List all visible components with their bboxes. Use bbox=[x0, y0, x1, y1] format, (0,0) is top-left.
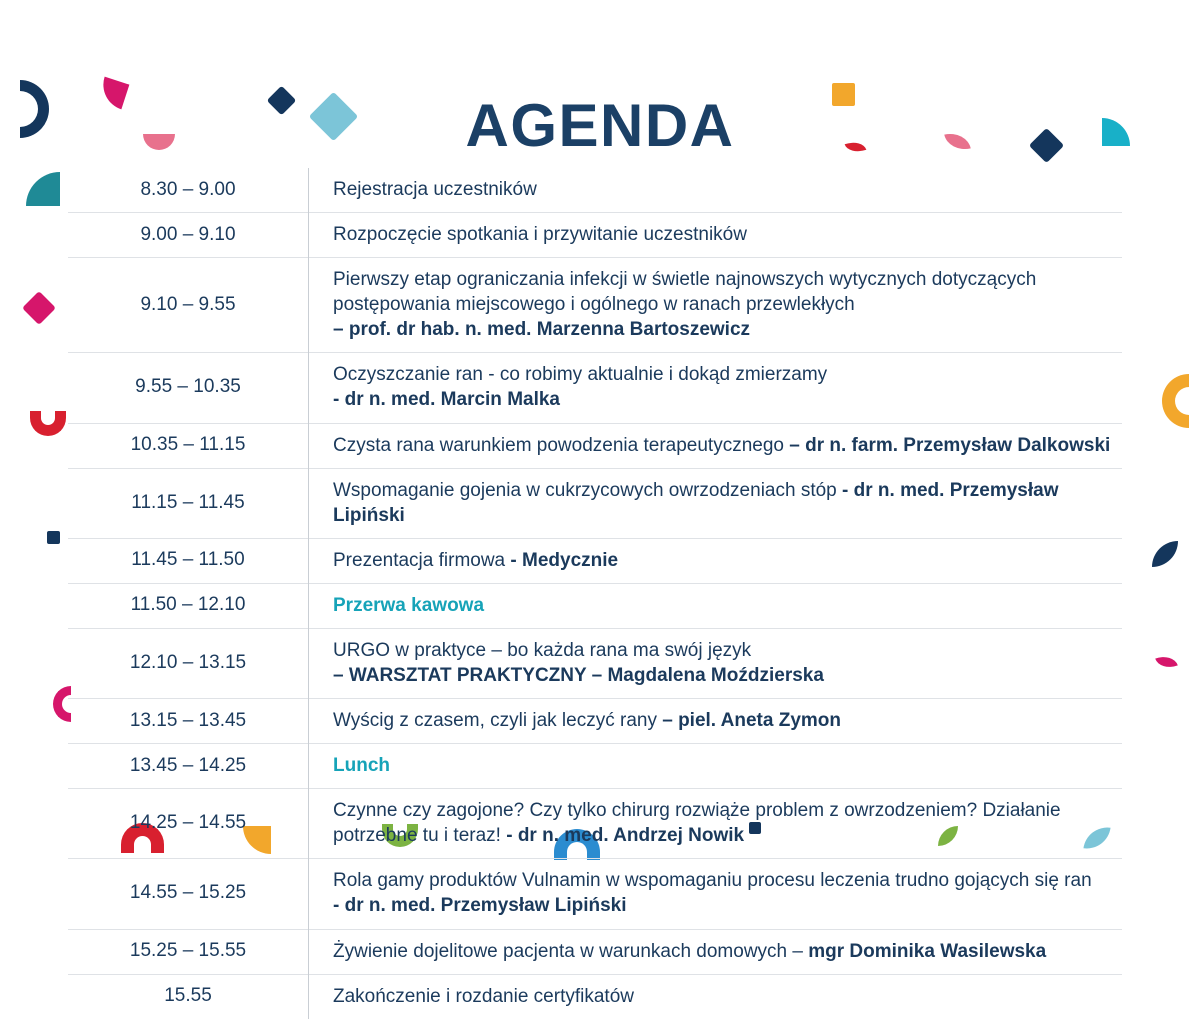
agenda-row: 10.35 – 11.15Czysta rana warunkiem powod… bbox=[68, 423, 1122, 468]
agenda-row-description: Żywienie dojelitowe pacjenta w warunkach… bbox=[309, 929, 1123, 974]
agenda-topic-text: Rozpoczęcie spotkania i przywitanie ucze… bbox=[333, 224, 747, 245]
agenda-row-description: Prezentacja firmowa - Medycznie bbox=[309, 538, 1123, 583]
agenda-topic-text: Rola gamy produktów Vulnamin w wspomagan… bbox=[333, 870, 1092, 891]
red-bowl-icon bbox=[30, 411, 66, 436]
agenda-row-description: Czysta rana warunkiem powodzenia terapeu… bbox=[309, 423, 1123, 468]
orange-crescent-icon bbox=[1162, 374, 1189, 428]
agenda-table: 8.30 – 9.00Rejestracja uczestników9.00 –… bbox=[68, 168, 1122, 1019]
agenda-topic-text: Wyścig z czasem, czyli jak leczyć rany bbox=[333, 710, 662, 731]
agenda-row-description: Rola gamy produktów Vulnamin w wspomagan… bbox=[309, 859, 1123, 929]
agenda-row-description: Rozpoczęcie spotkania i przywitanie ucze… bbox=[309, 213, 1123, 258]
agenda-topic-text: Rejestracja uczestników bbox=[333, 179, 537, 200]
agenda-row: 9.10 – 9.55Pierwszy etap ograniczania in… bbox=[68, 258, 1122, 353]
agenda-row-time: 13.15 – 13.45 bbox=[68, 699, 309, 744]
agenda-topic-text: Wspomaganie gojenia w cukrzycowych owrzo… bbox=[333, 480, 842, 501]
agenda-table-body: 8.30 – 9.00Rejestracja uczestników9.00 –… bbox=[68, 168, 1122, 1019]
agenda-row-time: 9.00 – 9.10 bbox=[68, 213, 309, 258]
agenda-row-description: URGO w praktyce – bo każda rana ma swój … bbox=[309, 628, 1123, 698]
agenda-row-time: 11.45 – 11.50 bbox=[68, 538, 309, 583]
agenda-topic-text: Żywienie dojelitowe pacjenta w warunkach… bbox=[333, 941, 808, 962]
agenda-row-description: Rejestracja uczestników bbox=[309, 168, 1123, 213]
agenda-row-description: Wspomaganie gojenia w cukrzycowych owrzo… bbox=[309, 468, 1123, 538]
agenda-row-time: 11.15 – 11.45 bbox=[68, 468, 309, 538]
agenda-speaker-text: – prof. dr hab. n. med. Marzenna Bartosz… bbox=[333, 319, 750, 340]
agenda-speaker-text: – WARSZTAT PRAKTYCZNY – Magdalena Moździ… bbox=[333, 665, 824, 686]
navy-square-small-icon bbox=[47, 531, 60, 544]
agenda-topic-text: URGO w praktyce – bo każda rana ma swój … bbox=[333, 640, 751, 661]
agenda-row-time: 14.25 – 14.55 bbox=[68, 789, 309, 859]
agenda-row: 14.25 – 14.55Czynne czy zagojone? Czy ty… bbox=[68, 789, 1122, 859]
agenda-row: 11.15 – 11.45Wspomaganie gojenia w cukrz… bbox=[68, 468, 1122, 538]
agenda-speaker-text: - dr n. med. Przemysław Lipiński bbox=[333, 895, 627, 916]
agenda-topic-text: Czysta rana warunkiem powodzenia terapeu… bbox=[333, 435, 789, 456]
agenda-row-time: 12.10 – 13.15 bbox=[68, 628, 309, 698]
agenda-row-time: 9.55 – 10.35 bbox=[68, 353, 309, 423]
agenda-speaker-text: - Medycznie bbox=[510, 550, 618, 571]
agenda-row-description: Przerwa kawowa bbox=[309, 583, 1123, 628]
agenda-row-description: Oczyszczanie ran - co robimy aktualnie i… bbox=[309, 353, 1123, 423]
magenta-sliver-icon bbox=[1155, 652, 1178, 672]
agenda-topic-text: Oczyszczanie ran - co robimy aktualnie i… bbox=[333, 364, 827, 385]
agenda-row-time: 8.30 – 9.00 bbox=[68, 168, 309, 213]
agenda-row-time: 15.25 – 15.55 bbox=[68, 929, 309, 974]
agenda-speaker-text: – piel. Aneta Zymon bbox=[662, 710, 841, 731]
agenda-speaker-text: Przerwa kawowa bbox=[333, 595, 484, 616]
agenda-row: 13.45 – 14.25Lunch bbox=[68, 744, 1122, 789]
agenda-speaker-text: mgr Dominika Wasilewska bbox=[808, 941, 1046, 962]
teal-quarter-icon bbox=[26, 172, 60, 206]
agenda-speaker-text: - dr n. med. Marcin Malka bbox=[333, 389, 560, 410]
agenda-row: 15.55Zakończenie i rozdanie certyfikatów bbox=[68, 974, 1122, 1019]
agenda-speaker-text: Lunch bbox=[333, 755, 390, 776]
agenda-row-time: 14.55 – 15.25 bbox=[68, 859, 309, 929]
agenda-row: 8.30 – 9.00Rejestracja uczestników bbox=[68, 168, 1122, 213]
agenda-topic-text: Zakończenie i rozdanie certyfikatów bbox=[333, 986, 634, 1007]
navy-leaf-icon bbox=[1152, 541, 1178, 567]
agenda-row-description: Zakończenie i rozdanie certyfikatów bbox=[309, 974, 1123, 1019]
agenda-row-time: 11.50 – 12.10 bbox=[68, 583, 309, 628]
agenda-speaker-text: - dr n. med. Andrzej Nowik bbox=[506, 825, 744, 846]
agenda-row-time: 13.45 – 14.25 bbox=[68, 744, 309, 789]
agenda-row-description: Lunch bbox=[309, 744, 1123, 789]
agenda-row-time: 9.10 – 9.55 bbox=[68, 258, 309, 353]
agenda-row-description: Wyścig z czasem, czyli jak leczyć rany –… bbox=[309, 699, 1123, 744]
agenda-row-description: Czynne czy zagojone? Czy tylko chirurg r… bbox=[309, 789, 1123, 859]
agenda-row-time: 10.35 – 11.15 bbox=[68, 423, 309, 468]
agenda-row: 11.50 – 12.10Przerwa kawowa bbox=[68, 583, 1122, 628]
agenda-row: 15.25 – 15.55Żywienie dojelitowe pacjent… bbox=[68, 929, 1122, 974]
agenda-row: 14.55 – 15.25Rola gamy produktów Vulnami… bbox=[68, 859, 1122, 929]
magenta-diamond-icon bbox=[22, 291, 56, 325]
agenda-row: 12.10 – 13.15URGO w praktyce – bo każda … bbox=[68, 628, 1122, 698]
agenda-topic-text: Prezentacja firmowa bbox=[333, 550, 510, 571]
agenda-row: 11.45 – 11.50Prezentacja firmowa - Medyc… bbox=[68, 538, 1122, 583]
agenda-row-time: 15.55 bbox=[68, 974, 309, 1019]
agenda-row: 13.15 – 13.45Wyścig z czasem, czyli jak … bbox=[68, 699, 1122, 744]
agenda-speaker-text: – dr n. farm. Przemysław Dalkowski bbox=[789, 435, 1110, 456]
agenda-row-description: Pierwszy etap ograniczania infekcji w św… bbox=[309, 258, 1123, 353]
agenda-topic-text: Pierwszy etap ograniczania infekcji w św… bbox=[333, 269, 1036, 315]
agenda-row: 9.00 – 9.10Rozpoczęcie spotkania i przyw… bbox=[68, 213, 1122, 258]
page-title: AGENDA bbox=[0, 96, 1200, 156]
agenda-row: 9.55 – 10.35Oczyszczanie ran - co robimy… bbox=[68, 353, 1122, 423]
